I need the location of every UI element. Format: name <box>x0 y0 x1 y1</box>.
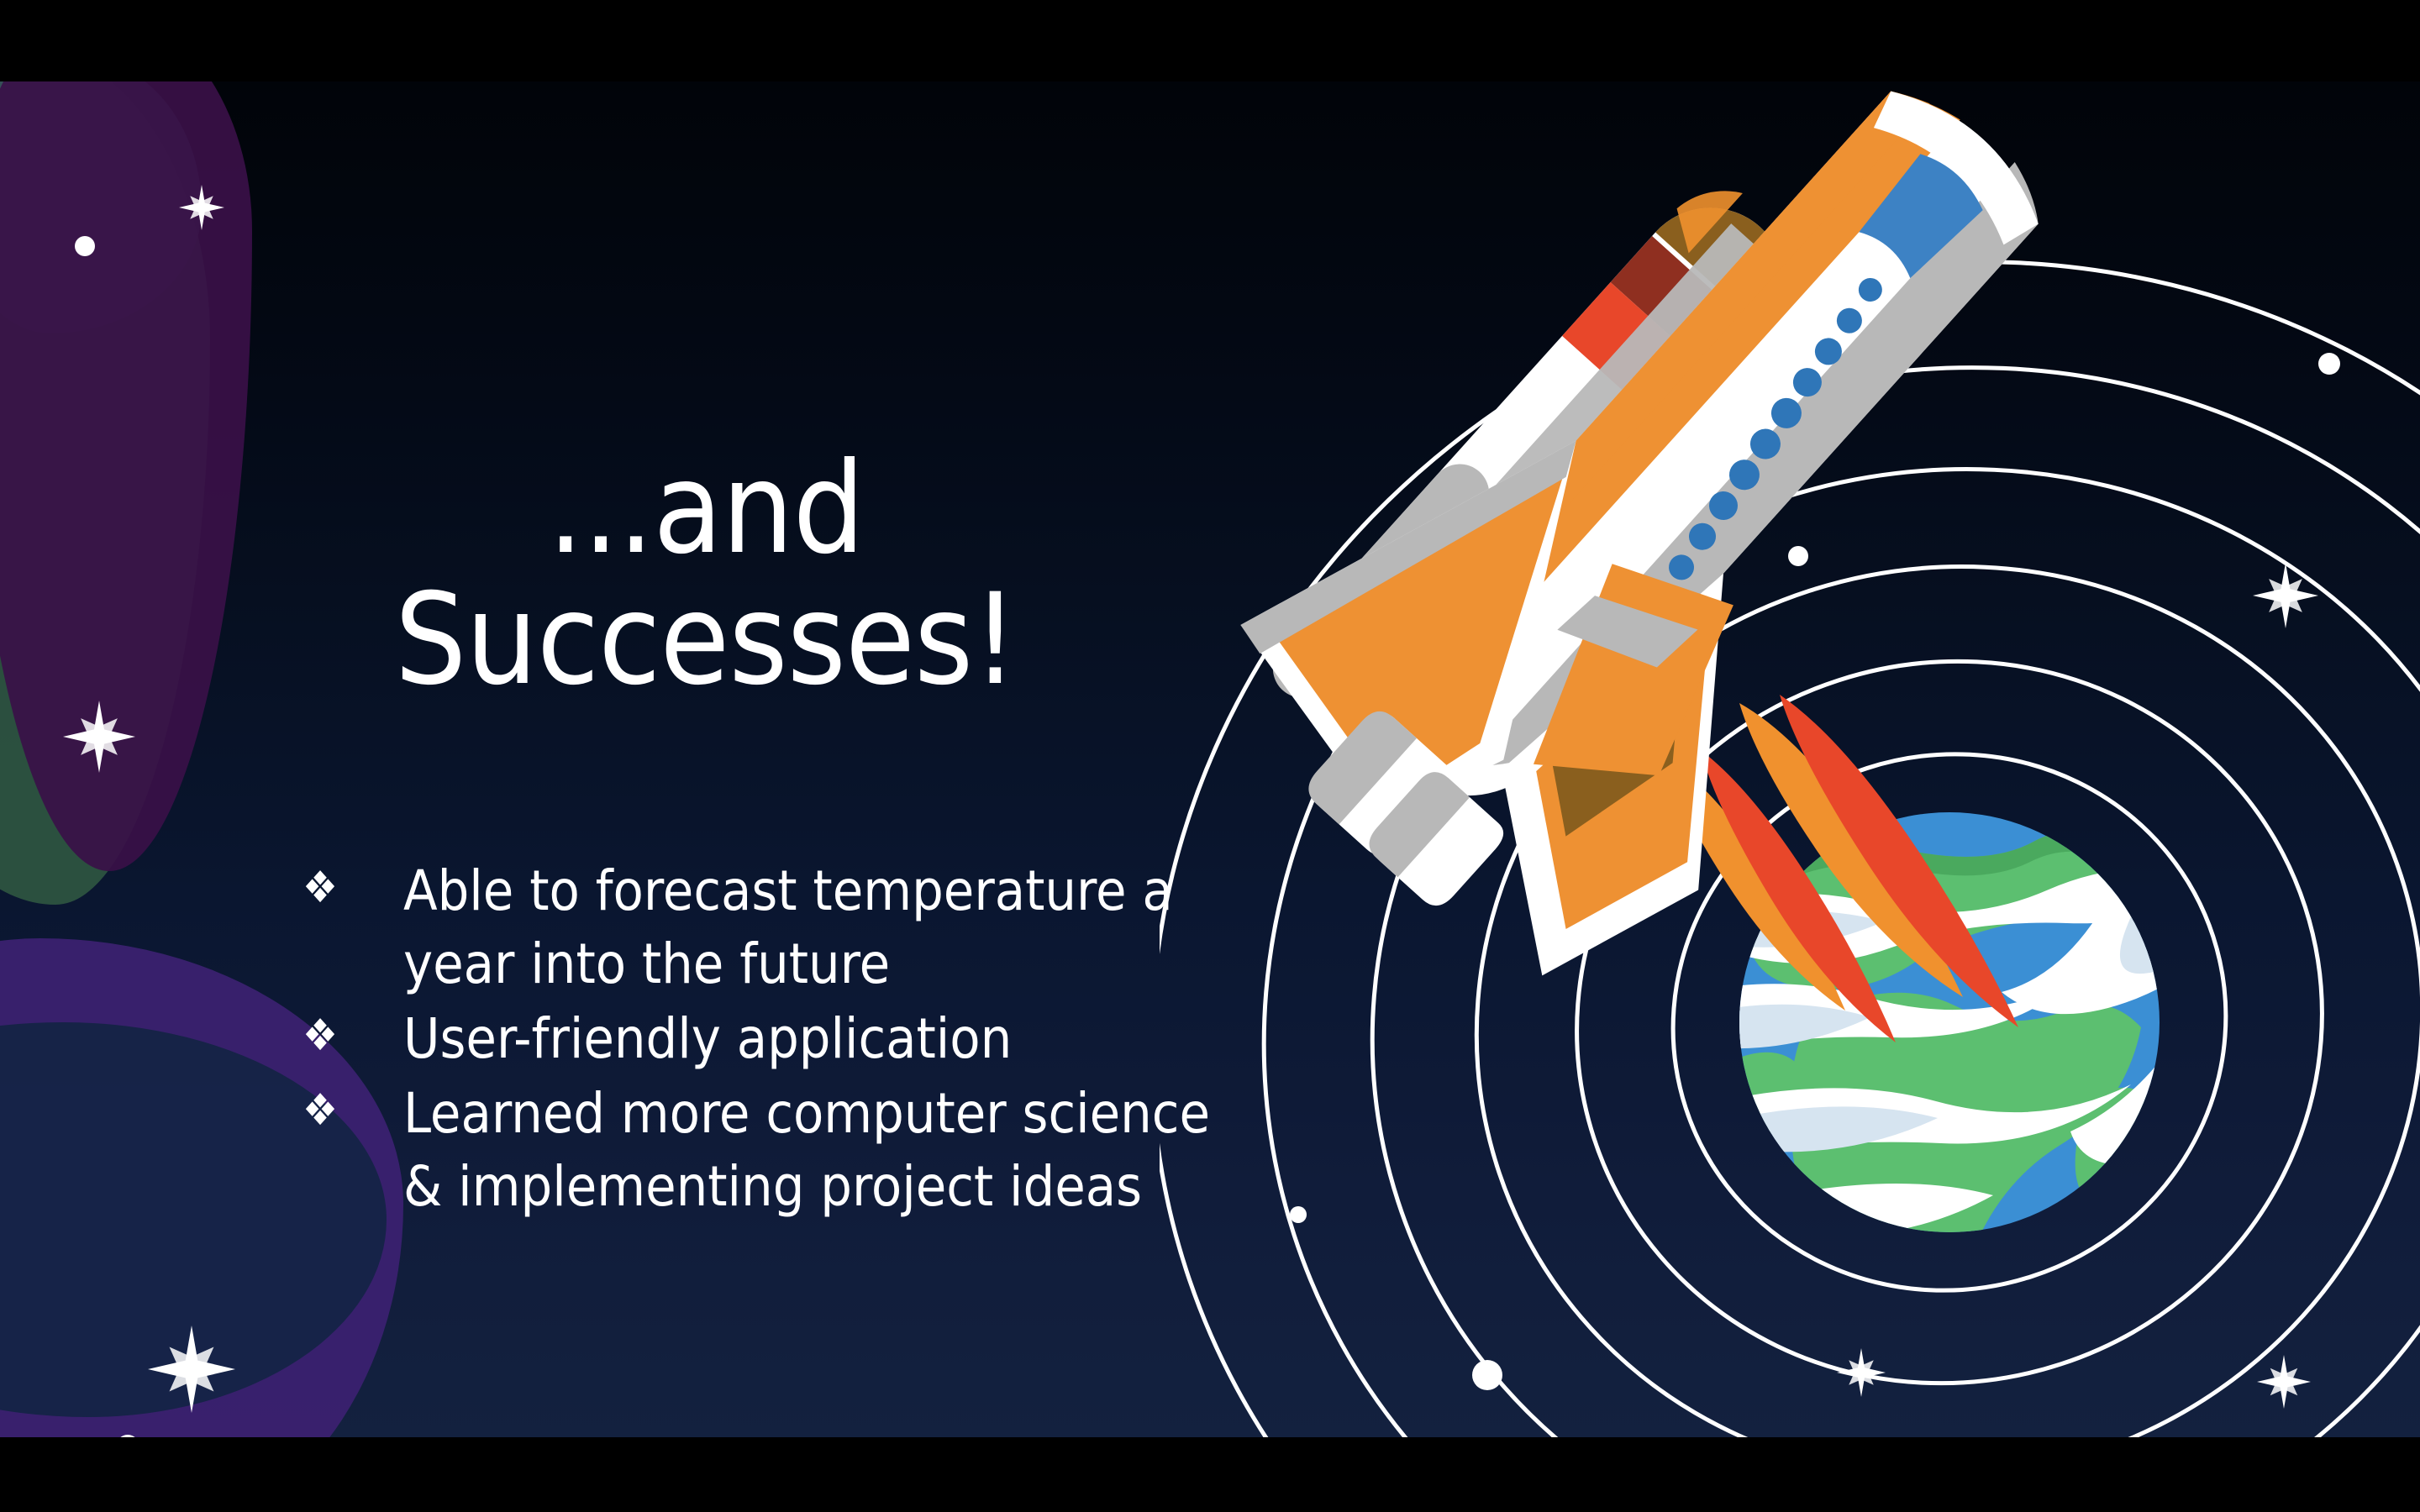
letterbox-bar-top <box>0 0 2420 81</box>
bullet-item: ❖Learned more computer science & impleme… <box>302 1077 1260 1223</box>
bullet-list: ❖Able to forecast temperature a year int… <box>302 854 1260 1226</box>
bullet-text: User-friendly application <box>403 1002 1260 1075</box>
sparkle-star-icon <box>148 1326 235 1413</box>
bullet-text: Learned more computer science & implemen… <box>403 1077 1260 1223</box>
star-dot-icon <box>75 236 95 256</box>
earth-globe <box>1622 812 2306 1308</box>
letterbox-bar-bottom <box>0 1437 2420 1512</box>
bullet-diamond-icon: ❖ <box>302 854 403 922</box>
bullet-text: Able to forecast temperature a year into… <box>403 854 1260 1000</box>
bullet-diamond-icon: ❖ <box>302 1077 403 1145</box>
slide-canvas: ...and Successes! ❖Able to forecast temp… <box>0 81 2420 1437</box>
presentation-slide: ...and Successes! ❖Able to forecast temp… <box>0 0 2420 1512</box>
sparkle-star-icon <box>179 185 224 230</box>
bullet-item: ❖Able to forecast temperature a year int… <box>302 854 1260 1000</box>
space-illustration <box>1160 81 2420 1437</box>
sparkle-star-icon <box>63 701 135 773</box>
slide-title: ...and Successes! <box>151 444 1260 706</box>
bullet-diamond-icon: ❖ <box>302 1002 403 1070</box>
bullet-item: ❖User-friendly application <box>302 1002 1260 1075</box>
